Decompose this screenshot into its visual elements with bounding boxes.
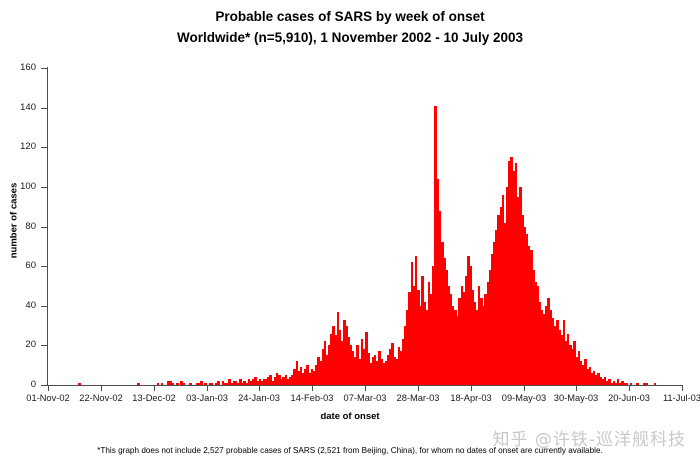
bar: [636, 383, 639, 385]
plot-area: [48, 68, 682, 385]
bar: [161, 383, 164, 385]
y-axis-tick-label: 0: [0, 380, 36, 390]
bar: [626, 383, 629, 385]
bar: [189, 383, 192, 385]
y-axis-tick: [41, 108, 47, 109]
x-axis-tick: [207, 386, 208, 391]
bar: [200, 381, 203, 385]
y-axis-tick: [41, 385, 47, 386]
x-axis-tick: [365, 386, 366, 391]
bar: [157, 383, 160, 385]
bar: [176, 383, 179, 385]
x-axis-tick: [629, 386, 630, 391]
watermark: 知乎 @许铁-巡洋舰科技: [492, 425, 686, 450]
x-axis-tick: [471, 386, 472, 391]
bar: [645, 383, 648, 385]
y-axis-tick-label: 40: [0, 301, 36, 311]
x-axis-tick: [682, 386, 683, 391]
x-axis-tick: [576, 386, 577, 391]
x-axis-title: date of onset: [0, 411, 700, 422]
y-axis-tick-label: 140: [0, 103, 36, 113]
y-axis-tick: [41, 266, 47, 267]
bar: [204, 383, 207, 385]
y-axis-tick: [41, 68, 47, 69]
x-axis-tick-label: 11-Jul-03: [647, 393, 700, 403]
chart-container: 020406080100120140160 01-Nov-0222-Nov-02…: [0, 0, 700, 467]
bar: [630, 383, 633, 385]
bar: [78, 383, 81, 385]
x-axis-tick: [312, 386, 313, 391]
x-axis-tick: [154, 386, 155, 391]
bar: [654, 383, 657, 385]
x-axis-tick: [101, 386, 102, 391]
bar: [172, 383, 175, 385]
x-axis-tick: [259, 386, 260, 391]
y-axis-tick: [41, 306, 47, 307]
bar: [183, 383, 186, 385]
y-axis-tick: [41, 345, 47, 346]
y-axis-tick-label: 20: [0, 340, 36, 350]
y-axis-title: number of cases: [9, 151, 20, 291]
x-axis-tick: [48, 386, 49, 391]
x-axis-tick: [418, 386, 419, 391]
bar: [217, 381, 220, 385]
bar: [211, 383, 214, 385]
x-axis-tick: [524, 386, 525, 391]
y-axis-tick: [41, 187, 47, 188]
y-axis-tick: [41, 227, 47, 228]
y-axis-tick: [41, 147, 47, 148]
bar: [137, 383, 140, 385]
y-axis-tick-label: 160: [0, 63, 36, 73]
